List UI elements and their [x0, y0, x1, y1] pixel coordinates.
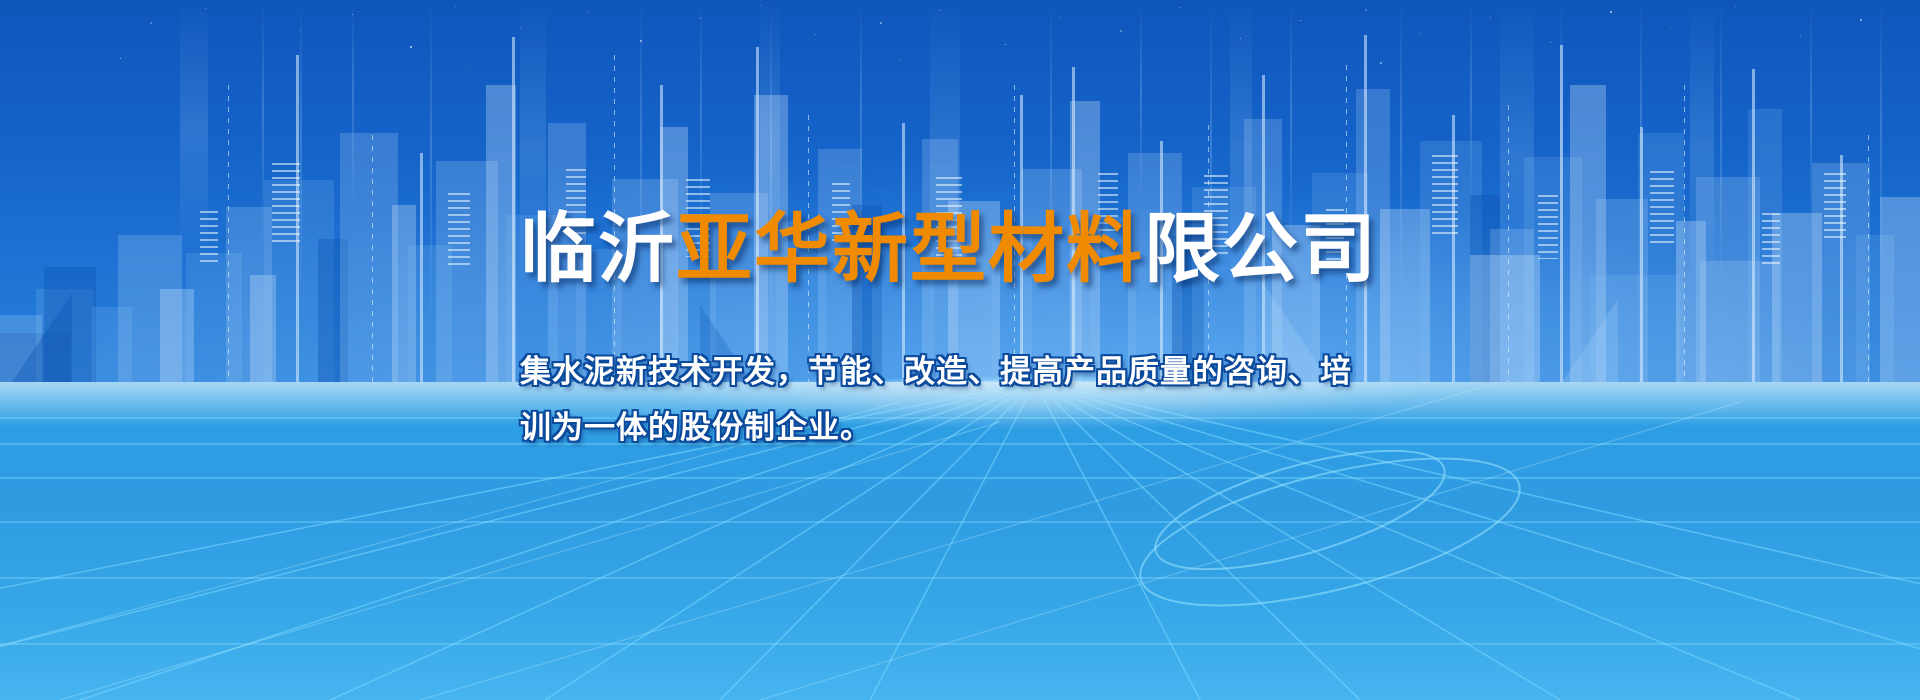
- title-segment-brand: 亚华新型材料: [676, 207, 1144, 292]
- title-segment-city: 临沂: [520, 207, 676, 292]
- subtitle-line-2: 训为一体的股份制企业。: [520, 412, 872, 443]
- page-title: 临沂亚华新型材料限公司: [520, 212, 1378, 288]
- subtitle-line-1: 集水泥新技术开发，节能、改造、提高产品质量的咨询、培: [520, 356, 1352, 387]
- hero-banner: 临沂亚华新型材料限公司 集水泥新技术开发，节能、改造、提高产品质量的咨询、培 训…: [0, 0, 1920, 700]
- banner-copy: 临沂亚华新型材料限公司 集水泥新技术开发，节能、改造、提高产品质量的咨询、培 训…: [0, 0, 1920, 700]
- title-segment-suffix: 限公司: [1144, 207, 1378, 292]
